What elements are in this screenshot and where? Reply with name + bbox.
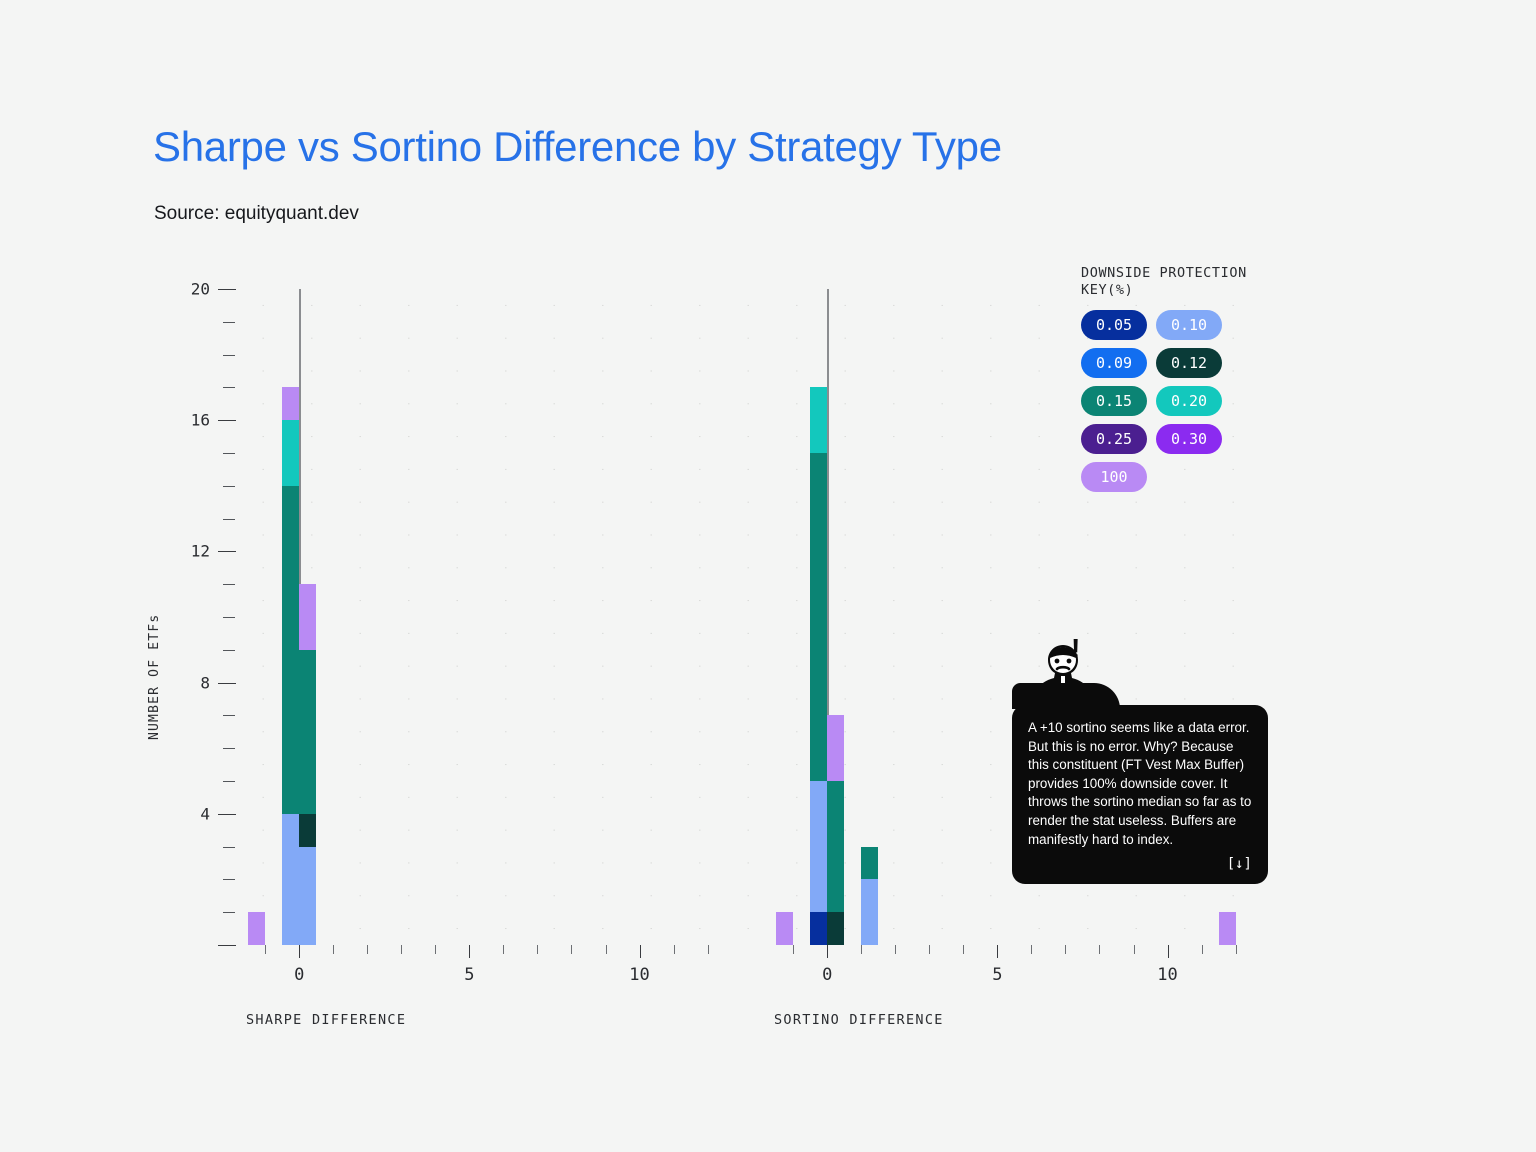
x-tick-major [997,945,998,958]
x-axis: 0510 [766,945,1256,975]
x-tick-minor [674,945,675,954]
y-tick-major [218,551,236,552]
x-tick-label: 5 [464,965,474,985]
y-tick-minor [223,387,235,388]
facet-panel [238,289,728,945]
y-tick-major [218,945,236,946]
x-axis: 0510 [238,945,728,975]
bar-segment[interactable] [299,814,316,847]
x-tick-minor [401,945,402,954]
legend-chip[interactable]: 0.09 [1081,348,1147,378]
y-tick-minor [223,912,235,913]
legend-chip[interactable]: 0.05 [1081,310,1147,340]
bar-segment[interactable] [282,420,299,486]
annotation-footer: [↓] [1028,855,1252,874]
y-tick-minor [223,781,235,782]
facet-axis-title: SHARPE DIFFERENCE [246,1012,406,1028]
legend-chip[interactable]: 0.15 [1081,386,1147,416]
x-tick-minor [861,945,862,954]
bar-segment[interactable] [810,781,827,912]
x-tick-major [469,945,470,958]
x-tick-minor [793,945,794,954]
x-tick-minor [1134,945,1135,954]
x-tick-minor [606,945,607,954]
y-tick-minor [223,486,235,487]
bar-segment[interactable] [282,814,299,945]
chart-canvas: Sharpe vs Sortino Difference by Strategy… [0,0,1536,1152]
x-tick-minor [1236,945,1237,954]
x-tick-label: 10 [1157,965,1177,985]
source-subtitle: Source: equityquant.dev [154,203,359,225]
y-tick-minor [223,715,235,716]
bar-segment[interactable] [776,912,793,945]
y-tick-major [218,420,236,421]
bar-segment[interactable] [861,847,878,880]
x-tick-minor [537,945,538,954]
legend: DOWNSIDE PROTECTION KEY(%) 0.050.100.090… [1081,265,1281,492]
x-tick-minor [265,945,266,954]
annotation-bubble: A +10 sortino seems like a data error. B… [1012,705,1268,884]
x-tick-minor [1099,945,1100,954]
bar-segment[interactable] [248,912,265,945]
y-tick-minor [223,650,235,651]
x-tick-label: 10 [629,965,649,985]
legend-items: 0.050.100.090.120.150.200.250.30100 [1081,310,1281,492]
x-tick-minor [929,945,930,954]
x-tick-major [640,945,641,958]
x-tick-major [299,945,300,958]
legend-chip[interactable]: 0.20 [1156,386,1222,416]
y-tick-major [218,289,236,290]
y-tick-label: 8 [200,673,210,692]
page-title: Sharpe vs Sortino Difference by Strategy… [153,123,1002,171]
bar-segment[interactable] [827,715,844,781]
legend-chip[interactable]: 100 [1081,462,1147,492]
x-tick-minor [1031,945,1032,954]
bar-segment[interactable] [1219,912,1236,945]
x-tick-minor [1065,945,1066,954]
bar-segment[interactable] [299,847,316,945]
annotation-callout: ! A +10 sortino seems like a data error.… [1012,705,1268,884]
x-tick-label: 0 [822,965,832,985]
bar-segment[interactable] [861,879,878,945]
x-tick-minor [503,945,504,954]
x-tick-major [1168,945,1169,958]
facet-axis-title: SORTINO DIFFERENCE [774,1012,944,1028]
y-tick-minor [223,617,235,618]
y-axis-ticks [218,289,238,945]
bar-segment[interactable] [282,387,299,420]
bar-stack[interactable] [861,847,878,945]
legend-chip[interactable]: 0.30 [1156,424,1222,454]
x-tick-minor [435,945,436,954]
legend-chip[interactable]: 0.10 [1156,310,1222,340]
y-tick-minor [223,453,235,454]
y-axis-title: NUMBER OF ETFs [147,614,162,740]
y-tick-minor [223,584,235,585]
bar-segment[interactable] [827,912,844,945]
x-tick-minor [333,945,334,954]
y-tick-label: 4 [200,804,210,823]
bar-segment[interactable] [299,650,316,814]
x-tick-minor [963,945,964,954]
bar-stack[interactable] [248,912,265,945]
y-tick-label: 12 [191,542,210,561]
y-tick-minor [223,847,235,848]
y-tick-minor [223,322,235,323]
bar-segment[interactable] [299,584,316,650]
bar-stack[interactable] [827,715,844,945]
bar-segment[interactable] [810,912,827,945]
bar-segment[interactable] [282,486,299,814]
x-tick-minor [895,945,896,954]
legend-chip[interactable]: 0.12 [1156,348,1222,378]
bar-stack[interactable] [282,387,299,945]
bar-stack[interactable] [810,387,827,945]
y-tick-minor [223,519,235,520]
y-tick-label: 16 [191,411,210,430]
x-tick-minor [367,945,368,954]
x-tick-minor [708,945,709,954]
bar-segment[interactable] [827,781,844,912]
x-tick-minor [571,945,572,954]
legend-chip[interactable]: 0.25 [1081,424,1147,454]
bar-segment[interactable] [810,387,827,453]
y-tick-major [218,683,236,684]
bar-segment[interactable] [810,453,827,781]
y-tick-minor [223,879,235,880]
y-axis-tick-labels: 48121620 [178,289,210,945]
x-tick-minor [1202,945,1203,954]
x-tick-major [827,945,828,958]
x-tick-label: 5 [992,965,1002,985]
bar-stack[interactable] [299,584,316,945]
bar-stack[interactable] [1219,912,1236,945]
y-tick-label: 20 [191,280,210,299]
y-tick-minor [223,748,235,749]
y-tick-major [218,814,236,815]
x-tick-label: 0 [294,965,304,985]
bar-stack[interactable] [776,912,793,945]
y-tick-minor [223,355,235,356]
legend-title: DOWNSIDE PROTECTION KEY(%) [1081,265,1281,299]
annotation-text: A +10 sortino seems like a data error. B… [1028,719,1252,849]
